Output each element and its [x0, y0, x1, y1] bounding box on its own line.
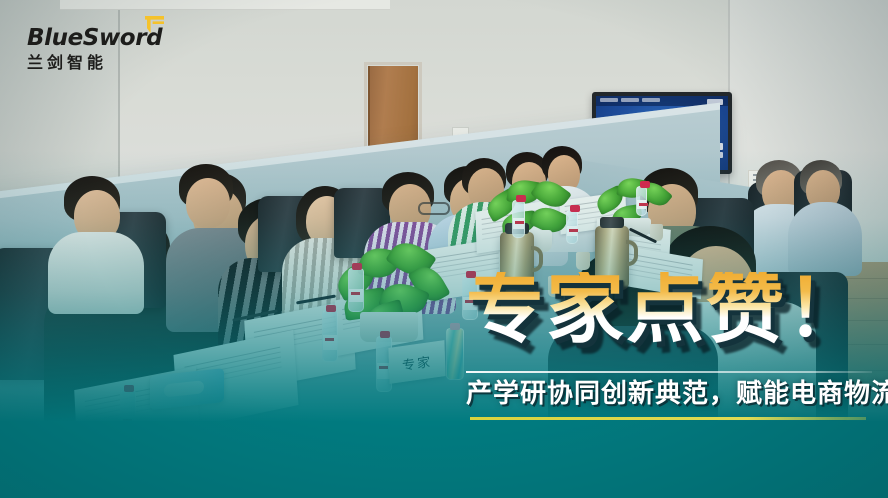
subtitle-text: 产学研协同创新典范，赋能电商物流升级 — [466, 380, 878, 410]
eyeglasses-icon — [418, 202, 450, 215]
banner-image: 专家 BlueSword 兰剑智能 专家点赞！ 产学研协同创新典范，赋能电商物流… — [0, 0, 888, 498]
brand-name-en: BlueSword — [27, 27, 157, 50]
water-bottle — [636, 186, 647, 216]
water-bottle — [322, 310, 338, 362]
teal-bottom-band — [0, 421, 888, 498]
bluesword-mark-icon — [143, 15, 165, 35]
brand-name-cn: 兰剑智能 — [27, 55, 157, 71]
headline-block: 专家点赞！ — [466, 272, 878, 346]
subtitle-rule-bottom — [470, 417, 866, 420]
subtitle-rule-top — [466, 371, 872, 373]
thermos-bottle — [446, 328, 464, 380]
water-bottle — [348, 268, 364, 312]
ceiling-strip — [60, 0, 390, 10]
water-bottle — [566, 210, 578, 244]
name-card-label: 专家 — [402, 350, 433, 373]
water-bottle — [512, 200, 525, 238]
brand-logo[interactable]: BlueSword 兰剑智能 — [27, 27, 157, 85]
headline-text: 专家点赞！ — [466, 272, 878, 346]
